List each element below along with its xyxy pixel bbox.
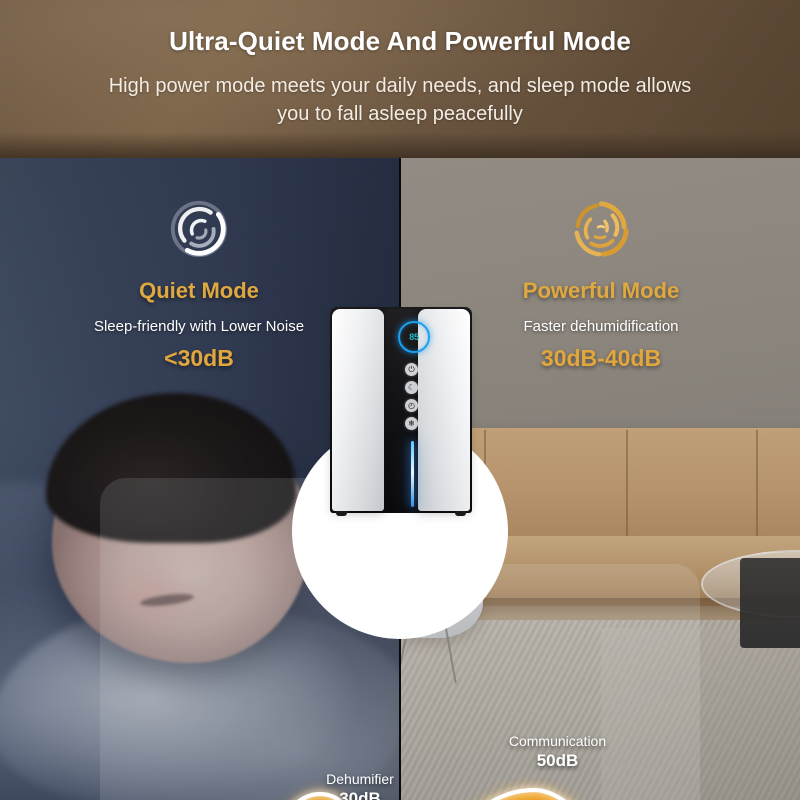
page-title: Ultra-Quiet Mode And Powerful Mode	[0, 26, 800, 57]
quiet-mode-subtitle: Sleep-friendly with Lower Noise	[34, 318, 364, 335]
product-feature-image: Ultra-Quiet Mode And Powerful Mode High …	[0, 0, 800, 800]
dehumidifier-product: 85 ⏻ ☾ ◴ ❄	[330, 307, 472, 519]
swirl-icon	[570, 198, 632, 260]
product-foot	[336, 511, 347, 516]
curve-label-value: 50dB	[470, 750, 645, 771]
power-icon[interactable]: ⏻	[405, 363, 418, 376]
moon-sleep-icon[interactable]: ☾	[405, 381, 418, 394]
page-subtitle: High power mode meets your daily needs, …	[96, 72, 704, 128]
powerful-mode-subtitle: Faster dehumidification	[436, 318, 766, 335]
powerful-mode-block: Powerful Mode Faster dehumidification 30…	[436, 198, 766, 372]
product-left-panel	[332, 309, 384, 511]
timer-icon[interactable]: ◴	[405, 399, 418, 412]
product-display: 85	[398, 321, 430, 353]
swirl-icon	[168, 198, 230, 260]
fan-speed-icon[interactable]: ❄	[405, 417, 418, 430]
humidity-readout: 85	[409, 332, 418, 342]
powerful-mode-value: 30dB-40dB	[436, 345, 766, 372]
powerful-mode-title: Powerful Mode	[436, 278, 766, 304]
product-foot	[455, 511, 466, 516]
curve-label-communication: Communication 50dB	[470, 732, 645, 771]
quiet-mode-title: Quiet Mode	[34, 278, 364, 304]
quiet-mode-block: Quiet Mode Sleep-friendly with Lower Noi…	[34, 198, 364, 372]
header-banner: Ultra-Quiet Mode And Powerful Mode High …	[0, 0, 800, 158]
curve-label-value: 30dB	[285, 788, 435, 800]
curve-label-name: Dehumifier	[285, 770, 435, 788]
scene: Quiet Mode Sleep-friendly with Lower Noi…	[0, 158, 800, 800]
curve-label-dehumidifier: Dehumifier 30dB	[285, 770, 435, 800]
curve-label-name: Communication	[470, 732, 645, 750]
led-water-level-bar	[411, 441, 414, 507]
quiet-mode-value: <30dB	[34, 345, 364, 372]
